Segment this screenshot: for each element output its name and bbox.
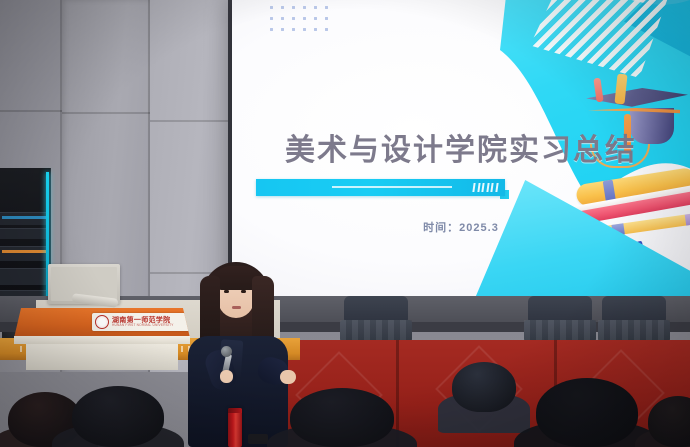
rack-unit-2 [0,228,46,239]
audience-head-2 [72,386,164,447]
plaque-text: 湖南第一师范学院 HUNAN FIRST NORMAL UNIVERSITY [112,317,174,327]
red-thermos [228,408,242,447]
rack-unit-3 [0,246,46,261]
presenter-hand-left [220,370,233,383]
wall-seam-6 [0,110,62,112]
audience-head-5 [536,378,638,447]
chair-2 [524,296,596,342]
audience-head-3 [290,388,394,447]
chair-1 [340,296,412,342]
screenshot-root: 美术与设计学院实习总结 时间：2025.3 [0,0,690,447]
presenter-eye-left [224,290,229,293]
rack-unit-4 [0,268,46,285]
chair-3 [598,296,670,342]
chair-back [602,296,666,322]
presenter-mouth [232,306,241,309]
podium-top: 湖南第一师范学院 HUNAN FIRST NORMAL UNIVERSITY [14,308,190,338]
chair-back [528,296,592,322]
university-seal-icon [95,315,109,329]
audience-head-4 [452,362,516,412]
rack-led-orange [2,250,46,253]
dot-grid-decoration [270,6,336,39]
rack-led-blue [2,216,46,219]
presenter-hand-right [280,370,296,384]
slide-accent-bar [256,179,505,196]
wall-seam-4 [150,120,240,122]
lectern-podium: 湖南第一师范学院 HUNAN FIRST NORMAL UNIVERSITY [14,308,190,370]
chair-seat [598,320,670,342]
wall-seam-3 [62,112,150,114]
presenter-eye-right [241,290,246,293]
chair-back [344,296,408,322]
plaque-institution-en: HUNAN FIRST NORMAL UNIVERSITY [112,324,174,327]
projection-screen: 美术与设计学院实习总结 时间：2025.3 [232,0,690,296]
microphone-icon [221,346,232,357]
podium-lip [14,336,190,344]
chair-seat [340,320,412,342]
phone-on-desk [248,434,268,444]
slide-date: 时间：2025.3 [232,219,690,235]
podium-body [26,344,178,370]
accent-bar-line [332,186,452,188]
thermos-cap [228,408,242,413]
accent-bar-ticks [473,183,497,192]
chair-seat [524,320,596,342]
slide-title: 美术与设计学院实习总结 [232,125,690,169]
